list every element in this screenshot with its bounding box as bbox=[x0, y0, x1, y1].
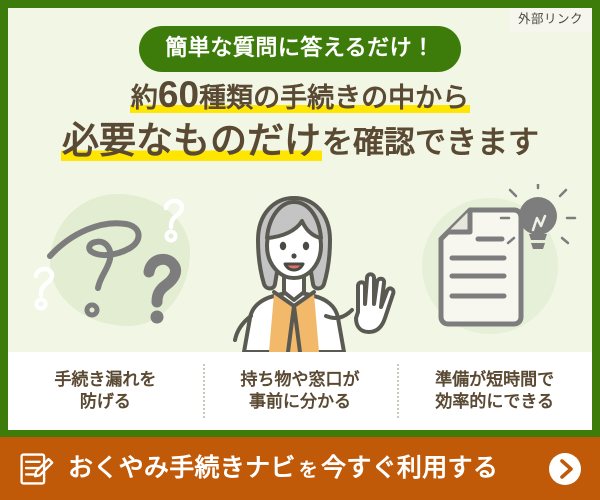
cta-label-particle: を bbox=[296, 460, 321, 481]
cta-button[interactable]: おくやみ手続きナビを今すぐ利用する bbox=[0, 437, 600, 500]
benefit-2-line-2: 事前に分かる bbox=[241, 391, 360, 413]
benefit-1-line-2: 防げる bbox=[54, 391, 156, 413]
smiling-woman-illustration bbox=[235, 198, 393, 352]
benefit-item-1: 手続き漏れを 防げる bbox=[8, 352, 203, 430]
external-link-label: 外部リンク bbox=[509, 8, 592, 32]
benefit-2-line-1: 持ち物や窓口が bbox=[241, 369, 360, 391]
headline: 約60種類の手続きの中から 必要なものだけを確認できます bbox=[8, 76, 592, 159]
illustration-strip bbox=[8, 184, 592, 352]
benefit-item-3: 準備が短時間で 効率的にできる bbox=[397, 352, 592, 430]
benefit-3-line-1: 準備が短時間で bbox=[435, 369, 554, 391]
headline-rest: を確認できます bbox=[322, 125, 539, 160]
headline-suffix: 種類の手続きの中から bbox=[199, 83, 469, 113]
banner-body: 外部リンク 簡単な質問に答えるだけ！ 約60種類の手続きの中から 必要なものだけ… bbox=[8, 8, 592, 352]
illustration-svg bbox=[8, 184, 592, 352]
question-marks-icon bbox=[36, 201, 182, 324]
benefit-item-2: 持ち物や窓口が 事前に分かる bbox=[203, 352, 398, 430]
headline-number: 60 bbox=[158, 74, 199, 115]
promo-banner: 外部リンク 簡単な質問に答えるだけ！ 約60種類の手続きの中から 必要なものだけ… bbox=[0, 0, 600, 500]
open-hand-icon bbox=[356, 274, 393, 332]
document-pencil-icon bbox=[18, 451, 54, 487]
cta-label-main: おくやみ手続きナビ bbox=[68, 454, 296, 482]
headline-prefix: 約 bbox=[131, 83, 158, 113]
benefits-row: 手続き漏れを 防げる 持ち物や窓口が 事前に分かる 準備が短時間で 効率的にでき… bbox=[8, 352, 592, 430]
benefit-1-line-1: 手続き漏れを bbox=[54, 369, 156, 391]
tagline-badge: 簡単な質問に答えるだけ！ bbox=[139, 26, 460, 72]
cta-label: おくやみ手続きナビを今すぐ利用する bbox=[68, 456, 538, 481]
cta-label-action: 今すぐ利用する bbox=[321, 454, 498, 482]
document-lightbulb-icon bbox=[441, 184, 575, 324]
headline-strong: 必要なものだけ bbox=[61, 120, 322, 161]
benefit-3-line-2: 効率的にできる bbox=[435, 391, 554, 413]
chevron-right-circle-icon[interactable] bbox=[548, 452, 582, 486]
headline-line-1: 約60種類の手続きの中から bbox=[8, 76, 592, 113]
headline-line-2: 必要なものだけを確認できます bbox=[8, 122, 592, 159]
badge-container: 簡単な質問に答えるだけ！ bbox=[8, 26, 592, 72]
